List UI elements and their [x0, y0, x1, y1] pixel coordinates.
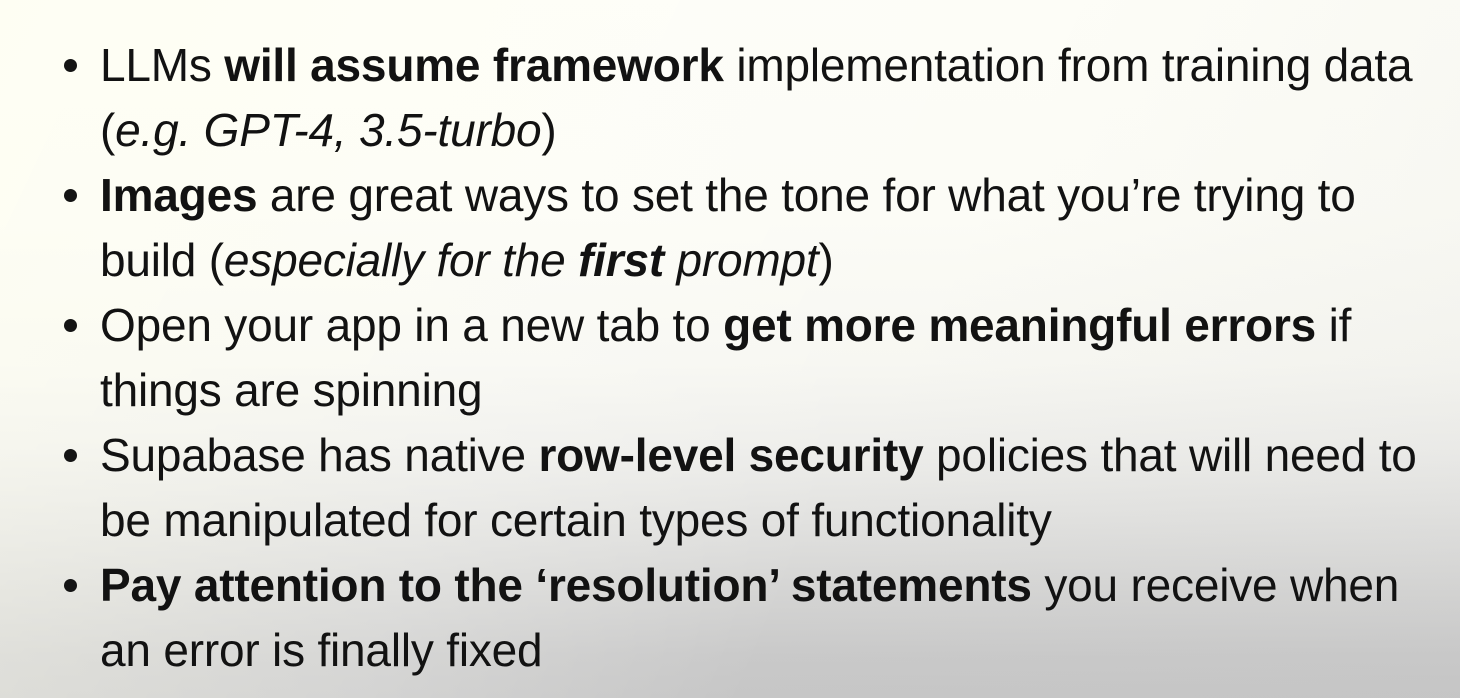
text-run-italic: prompt [664, 234, 819, 286]
text-run-bold: Images [100, 169, 257, 221]
list-item-text: Pay attention to the ‘resolution’ statem… [100, 553, 1444, 683]
text-run-normal: ) [541, 104, 556, 156]
text-run-bold: will assume framework [224, 39, 723, 91]
text-run-normal: ) [819, 234, 834, 286]
text-run-italic: especially for the [224, 234, 578, 286]
bullet-point-icon [64, 59, 77, 72]
list-item: Pay attention to the ‘resolution’ statem… [0, 553, 1460, 683]
slide-canvas: LLMs will assume framework implementatio… [0, 0, 1460, 698]
text-run-normal: Open your app in a new tab to [100, 299, 723, 351]
list-item-text: LLMs will assume framework implementatio… [100, 33, 1444, 163]
bullet-point-icon [64, 319, 77, 332]
bullet-list: LLMs will assume framework implementatio… [0, 0, 1460, 683]
list-item: Images are great ways to set the tone fo… [0, 163, 1460, 293]
list-item-text: Open your app in a new tab to get more m… [100, 293, 1444, 423]
list-item: Open your app in a new tab to get more m… [0, 293, 1460, 423]
bullet-point-icon [64, 579, 77, 592]
text-run-italic: e.g. GPT-4, 3.5-turbo [115, 104, 541, 156]
list-item-text: Supabase has native row-level security p… [100, 423, 1444, 553]
text-run-normal: Supabase has native [100, 429, 538, 481]
list-item: Supabase has native row-level security p… [0, 423, 1460, 553]
text-run-bold: Pay attention to the ‘resolution’ statem… [100, 559, 1032, 611]
text-run-bold: row-level security [538, 429, 923, 481]
text-run-bold-italic: first [578, 234, 664, 286]
list-item-text: Images are great ways to set the tone fo… [100, 163, 1444, 293]
text-run-bold: get more meaningful errors [723, 299, 1316, 351]
text-run-normal: LLMs [100, 39, 224, 91]
bullet-point-icon [64, 449, 77, 462]
bullet-point-icon [64, 189, 77, 202]
list-item: LLMs will assume framework implementatio… [0, 33, 1460, 163]
